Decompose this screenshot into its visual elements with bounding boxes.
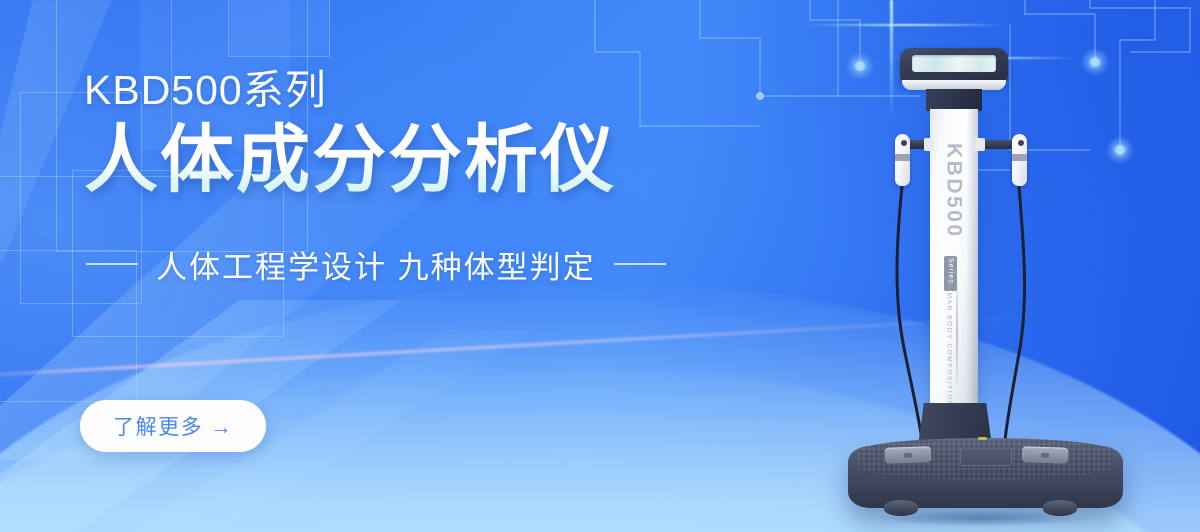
- device-arm-cap-right: [975, 138, 985, 151]
- banner-copy: KBD500系列 人体成分分析仪 人体工程学设计 九种体型判定: [84, 68, 704, 287]
- device-foot-left: [884, 500, 918, 516]
- tagline-text: 人体工程学设计 九种体型判定: [156, 242, 596, 287]
- device-foot-right: [1043, 500, 1077, 516]
- circuit-glow-line-1: [806, 24, 1006, 26]
- page-title: 人体成分分析仪: [84, 119, 704, 202]
- device-center-pad: [960, 448, 1012, 466]
- device-grip-dot-left: [901, 140, 907, 146]
- product-image-kbd500: KBD500 Series HUMAN BODY COMPOSITION ANA…: [838, 48, 1138, 518]
- device-electrode-nub-left: [904, 453, 912, 458]
- learn-more-button-label: 了解更多 →: [113, 411, 233, 441]
- product-banner: KBD500 Series HUMAN BODY COMPOSITION ANA…: [0, 0, 1200, 532]
- device-cables: [838, 48, 1138, 468]
- product-series-label: KBD500系列: [84, 68, 704, 113]
- tagline-rule-right: [614, 263, 666, 265]
- tagline-row: 人体工程学设计 九种体型判定: [86, 242, 704, 287]
- device-arm-cap-left: [924, 138, 934, 151]
- tagline-rule-left: [86, 263, 138, 265]
- device-grip-band-left: [895, 154, 910, 161]
- device-grip-dot-right: [1018, 140, 1024, 146]
- device-indicator-led: [978, 437, 987, 440]
- learn-more-button[interactable]: 了解更多 →: [80, 400, 266, 452]
- device-electrode-nub-right: [1041, 453, 1049, 458]
- device-grip-band-right: [1012, 154, 1027, 161]
